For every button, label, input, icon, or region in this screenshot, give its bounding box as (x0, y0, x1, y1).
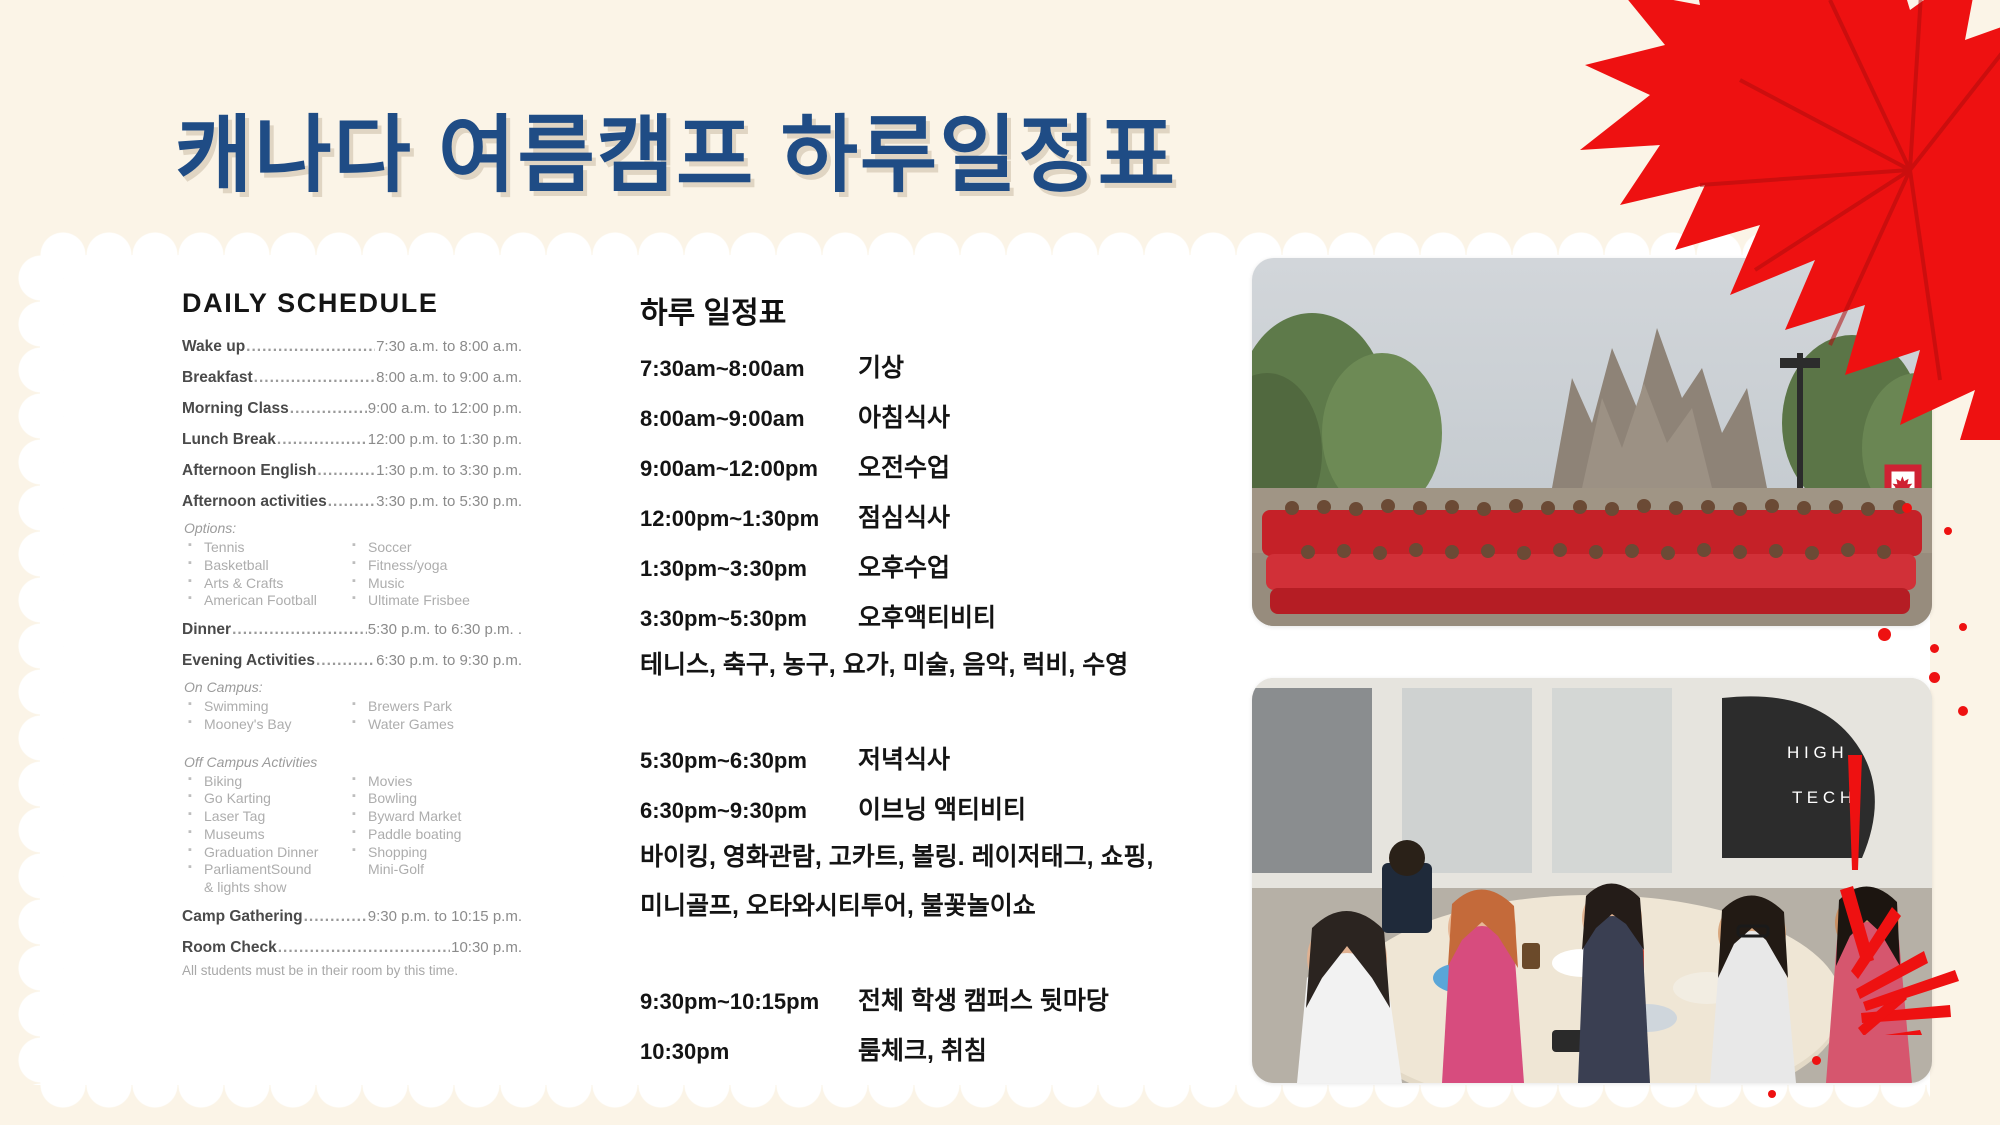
off-campus-list: Biking Go Karting Laser Tag Museums Grad… (182, 773, 522, 897)
schedule-time: 5:30 p.m. to 6:30 p.m. . (368, 621, 522, 638)
dot-leader: ........................................… (317, 462, 375, 480)
list-item: Movies (352, 773, 522, 791)
korean-schedule-row: 8:00am~9:00am 아침식사 (640, 398, 1240, 434)
dot-leader: ........................................… (277, 431, 367, 449)
evening-activity-note-line2: 미니골프, 오타와시티투어, 불꽃놀이쇼 (640, 889, 1240, 925)
schedule-time: 10:30 p.m. (451, 939, 522, 956)
schedule-label: Evening Activities (182, 652, 315, 670)
list-item: Basketball (182, 557, 352, 575)
korean-time: 7:30am~8:00am (640, 356, 858, 382)
options-list: Tennis Basketball Arts & Crafts American… (182, 539, 522, 610)
korean-time: 6:30pm~9:30pm (640, 798, 858, 824)
korean-schedule-row: 3:30pm~5:30pm 오후액티비티 (640, 598, 1240, 634)
schedule-label: Dinner (182, 621, 231, 639)
afternoon-activity-note: 테니스, 축구, 농구, 요가, 미술, 음악, 럭비, 수영 (640, 648, 1240, 684)
list-item: Byward Market (352, 808, 522, 826)
firework-burst-icon (1800, 755, 2000, 1035)
on-campus-list: Swimming Mooney's Bay Brewers Park Water… (182, 698, 522, 734)
schedule-time: 1:30 p.m. to 3:30 p.m. (376, 462, 522, 479)
schedule-row: Morning Class ..........................… (182, 400, 522, 418)
korean-desc: 오후액티비티 (858, 598, 996, 634)
korean-time: 5:30pm~6:30pm (640, 748, 858, 774)
korean-schedule-row: 12:00pm~1:30pm 점심식사 (640, 498, 1240, 534)
list-item: Mooney's Bay (182, 716, 352, 734)
options-list-left: Tennis Basketball Arts & Crafts American… (182, 539, 352, 610)
on-campus-list-left: Swimming Mooney's Bay (182, 698, 352, 734)
off-campus-list-right: Movies Bowling Byward Market Paddle boat… (352, 773, 522, 897)
korean-schedule-row: 6:30pm~9:30pm 이브닝 액티비티 (640, 790, 1240, 826)
options-label: Options: (184, 520, 522, 536)
list-item: Museums (182, 826, 352, 844)
list-item: ParliamentSound (182, 861, 352, 879)
dot-leader: ........................................… (316, 652, 375, 670)
dot-leader: ........................................… (278, 939, 450, 957)
korean-schedule-row: 9:00am~12:00pm 오전수업 (640, 448, 1240, 484)
korean-schedule-row: 5:30pm~6:30pm 저녁식사 (640, 740, 1240, 776)
dot-leader: ........................................… (290, 400, 367, 418)
schedule-time: 9:00 a.m. to 12:00 p.m. (368, 400, 522, 417)
schedule-time: 3:30 p.m. to 5:30 p.m. (376, 493, 522, 510)
korean-desc: 오후수업 (858, 548, 950, 584)
schedule-label: Afternoon activities (182, 493, 327, 511)
decor-dot (1944, 527, 1952, 535)
korean-time: 3:30pm~5:30pm (640, 606, 858, 632)
dot-leader: ........................................… (254, 369, 375, 387)
list-item: American Football (182, 592, 352, 610)
off-campus-label: Off Campus Activities (184, 754, 522, 770)
decor-dot (1930, 644, 1939, 653)
korean-schedule-row: 9:30pm~10:15pm 전체 학생 캠퍼스 뒷마당 (640, 981, 1240, 1017)
korean-time: 1:30pm~3:30pm (640, 556, 858, 582)
schedule-label: Breakfast (182, 369, 253, 387)
list-item-continuation: & lights show (182, 879, 352, 897)
schedule-label: Camp Gathering (182, 908, 303, 926)
off-campus-list-left: Biking Go Karting Laser Tag Museums Grad… (182, 773, 352, 897)
schedule-row: Afternoon activities ...................… (182, 493, 522, 511)
korean-time: 12:00pm~1:30pm (640, 506, 858, 532)
dot-leader: ........................................… (232, 621, 367, 639)
korean-desc: 아침식사 (858, 398, 950, 434)
korean-desc: 룸체크, 취침 (858, 1031, 987, 1067)
english-heading: DAILY SCHEDULE (182, 288, 522, 319)
photo-group-campers (1252, 258, 1932, 626)
list-item: Music (352, 575, 522, 593)
on-campus-list-right: Brewers Park Water Games (352, 698, 522, 734)
schedule-row: Lunch Break ............................… (182, 431, 522, 449)
english-schedule-column: DAILY SCHEDULE Wake up .................… (182, 288, 522, 978)
list-item: Swimming (182, 698, 352, 716)
decor-dot (1812, 1056, 1821, 1065)
schedule-label: Morning Class (182, 400, 289, 418)
korean-schedule-column: 하루 일정표 7:30am~8:00am 기상 8:00am~9:00am 아침… (640, 288, 1240, 1081)
list-item: Soccer (352, 539, 522, 557)
decor-dot (1929, 672, 1940, 683)
poster-canvas: 캐나다 여름캠프 하루일정표 DAILY SCHEDULE Wake up ..… (0, 0, 2000, 1125)
korean-time: 9:00am~12:00pm (640, 456, 858, 482)
evening-activity-note-line1: 바이킹, 영화관람, 고카트, 볼링. 레이저태그, 쇼핑, (640, 840, 1240, 876)
korean-schedule-row: 10:30pm 룸체크, 취침 (640, 1031, 1240, 1067)
list-item: Tennis (182, 539, 352, 557)
schedule-row-camp-gathering: Camp Gathering .........................… (182, 908, 522, 926)
schedule-row-room-check: Room Check .............................… (182, 939, 522, 957)
decor-dot (1958, 706, 1968, 716)
korean-desc: 점심식사 (858, 498, 950, 534)
page-title: 캐나다 여름캠프 하루일정표 (175, 88, 1177, 209)
korean-desc: 오전수업 (858, 448, 950, 484)
list-item: Water Games (352, 716, 522, 734)
list-item: Arts & Crafts (182, 575, 352, 593)
list-item: Brewers Park (352, 698, 522, 716)
korean-desc: 기상 (858, 348, 904, 384)
korean-desc: 저녁식사 (858, 740, 950, 776)
dot-leader: ........................................… (328, 493, 375, 511)
schedule-row: Wake up ................................… (182, 338, 522, 356)
korean-time: 10:30pm (640, 1039, 858, 1065)
decor-dot (1902, 503, 1912, 513)
decor-dot (1959, 623, 1967, 631)
schedule-label: Wake up (182, 338, 245, 356)
list-item: Biking (182, 773, 352, 791)
list-item: Shopping (352, 844, 522, 862)
schedule-label: Lunch Break (182, 431, 276, 449)
dot-leader: ........................................… (304, 908, 367, 926)
schedule-row: Afternoon English ......................… (182, 462, 522, 480)
room-check-footnote: All students must be in their room by th… (182, 963, 522, 978)
list-item: Fitness/yoga (352, 557, 522, 575)
scallop-edge-left (18, 255, 64, 1085)
schedule-row-dinner: Dinner .................................… (182, 621, 522, 639)
schedule-time: 6:30 p.m. to 9:30 p.m. (376, 652, 522, 669)
list-item: Ultimate Frisbee (352, 592, 522, 610)
schedule-label: Room Check (182, 939, 277, 957)
korean-heading: 하루 일정표 (640, 288, 1240, 332)
korean-schedule-row: 1:30pm~3:30pm 오후수업 (640, 548, 1240, 584)
schedule-time: 9:30 p.m. to 10:15 p.m. (368, 908, 522, 925)
schedule-row-evening: Evening Activities .....................… (182, 652, 522, 670)
schedule-time: 7:30 a.m. to 8:00 a.m. (376, 338, 522, 355)
schedule-time: 8:00 a.m. to 9:00 a.m. (376, 369, 522, 386)
korean-desc: 전체 학생 캠퍼스 뒷마당 (858, 981, 1109, 1017)
list-item: Paddle boating (352, 826, 522, 844)
korean-time: 8:00am~9:00am (640, 406, 858, 432)
dot-leader: ........................................… (246, 338, 375, 356)
korean-desc: 이브닝 액티비티 (858, 790, 1026, 826)
options-list-right: Soccer Fitness/yoga Music Ultimate Frisb… (352, 539, 522, 610)
korean-time: 9:30pm~10:15pm (640, 989, 858, 1015)
list-item: Go Karting (182, 790, 352, 808)
schedule-row: Breakfast ..............................… (182, 369, 522, 387)
list-item: Laser Tag (182, 808, 352, 826)
list-item: Graduation Dinner (182, 844, 352, 862)
on-campus-label: On Campus: (184, 679, 522, 695)
list-item: Mini-Golf (352, 861, 522, 879)
schedule-time: 12:00 p.m. to 1:30 p.m. (368, 431, 522, 448)
korean-schedule-row: 7:30am~8:00am 기상 (640, 348, 1240, 384)
decor-dot (1878, 628, 1891, 641)
list-item: Bowling (352, 790, 522, 808)
schedule-label: Afternoon English (182, 462, 316, 480)
decor-dot (1768, 1090, 1776, 1098)
